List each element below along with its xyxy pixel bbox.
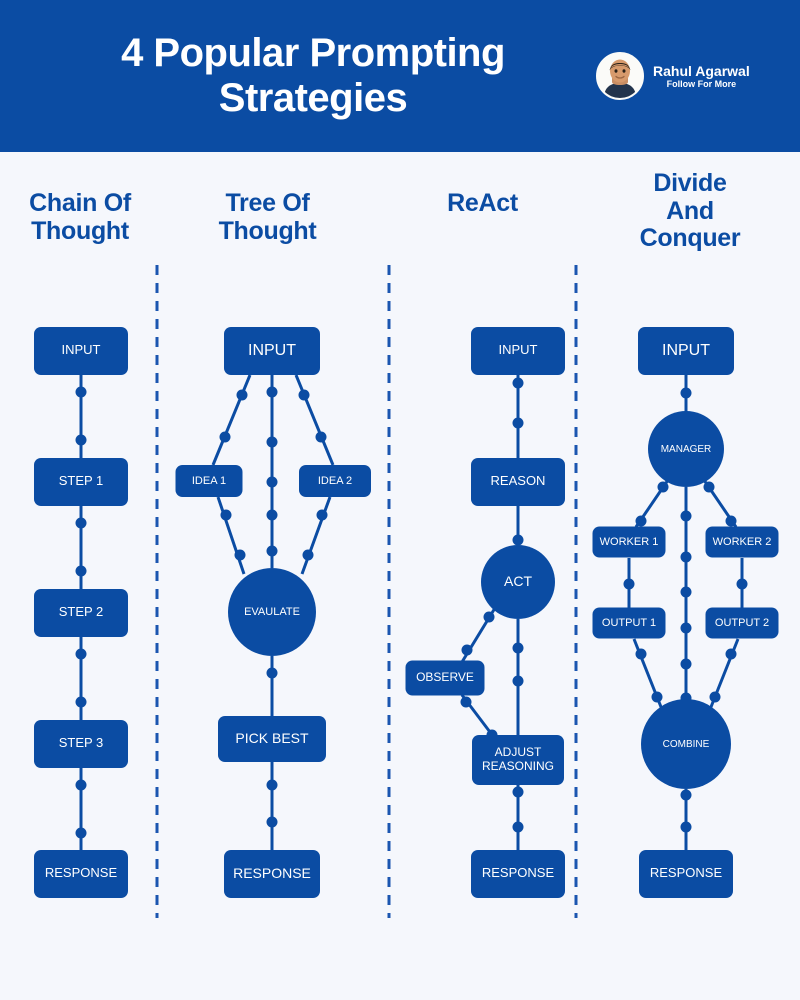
edge-dot-chain-of-thought-2-0 [76, 649, 87, 660]
node-react-response[interactable]: RESPONSE [471, 850, 565, 898]
edge-dot-divide-and-conquer-5-0 [737, 579, 748, 590]
node-label: INPUT [499, 342, 538, 357]
edge-dot-divide-and-conquer-6-1 [652, 692, 663, 703]
edge-dot-divide-and-conquer-1-1 [636, 516, 647, 527]
edge-dot-react-1-0 [513, 535, 524, 546]
edge-dot-tree-of-thought-4-1 [303, 550, 314, 561]
edge-dot-divide-and-conquer-8-1 [681, 822, 692, 833]
node-divide-and-conquer-output-2[interactable]: OUTPUT 2 [706, 608, 779, 639]
edge-dot-chain-of-thought-2-1 [76, 697, 87, 708]
node-label: STEP 2 [59, 604, 104, 619]
node-react-observe[interactable]: OBSERVE [406, 661, 485, 696]
edge-dot-divide-and-conquer-6-0 [636, 649, 647, 660]
edge-tree-of-thought-3 [218, 497, 244, 574]
flow-diagram: INPUTSTEP 1STEP 2STEP 3RESPONSEINPUTIDEA… [0, 0, 800, 1000]
edge-dot-tree-of-thought-3-0 [221, 510, 232, 521]
node-chain-of-thought-input[interactable]: INPUT [34, 327, 128, 375]
edge-dot-tree-of-thought-2-0 [299, 390, 310, 401]
edge-dot-divide-and-conquer-7-1 [710, 692, 721, 703]
node-label: INPUT [62, 342, 101, 357]
node-tree-of-thought-pick-best[interactable]: PICK BEST [218, 716, 326, 762]
node-tree-of-thought-response[interactable]: RESPONSE [224, 850, 320, 898]
edge-dot-react-4-0 [461, 697, 472, 708]
node-label: INPUT [662, 342, 710, 359]
node-label: EVAULATE [244, 606, 300, 618]
node-divide-and-conquer-manager[interactable]: MANAGER [648, 411, 724, 487]
edge-dot-divide-and-conquer-7-0 [726, 649, 737, 660]
node-label: MANAGER [661, 444, 712, 455]
edge-dot-chain-of-thought-3-0 [76, 780, 87, 791]
node-divide-and-conquer-response[interactable]: RESPONSE [639, 850, 733, 898]
edge-dot-chain-of-thought-0-0 [76, 387, 87, 398]
node-label: ACT [504, 573, 532, 589]
edge-dot-tree-of-thought-1-1 [267, 437, 278, 448]
node-label: IDEA 2 [318, 475, 352, 487]
node-label: IDEA 1 [192, 475, 226, 487]
edge-dot-react-2-1 [462, 645, 473, 656]
edge-dot-react-5-0 [513, 787, 524, 798]
edge-dot-divide-and-conquer-2-4 [681, 659, 692, 670]
edge-dot-react-0-1 [513, 418, 524, 429]
edge-dot-chain-of-thought-3-1 [76, 828, 87, 839]
edge-dot-divide-and-conquer-4-0 [624, 579, 635, 590]
edge-dot-tree-of-thought-2-1 [316, 432, 327, 443]
node-label: STEP 3 [59, 735, 104, 750]
edge-dot-divide-and-conquer-3-0 [704, 482, 715, 493]
edge-dot-divide-and-conquer-2-2 [681, 587, 692, 598]
node-chain-of-thought-response[interactable]: RESPONSE [34, 850, 128, 898]
node-label: REASON [491, 473, 546, 488]
edge-dot-react-5-1 [513, 822, 524, 833]
edge-dot-chain-of-thought-1-0 [76, 518, 87, 529]
edge-dot-chain-of-thought-0-1 [76, 435, 87, 446]
edge-dot-tree-of-thought-0-0 [237, 390, 248, 401]
node-tree-of-thought-idea-2[interactable]: IDEA 2 [299, 465, 371, 497]
edge-dot-tree-of-thought-1-2 [267, 477, 278, 488]
flow-nodes: INPUTSTEP 1STEP 2STEP 3RESPONSEINPUTIDEA… [34, 327, 779, 898]
node-label: STEP 1 [59, 473, 104, 488]
node-label: PICK BEST [235, 730, 309, 746]
edge-dot-divide-and-conquer-2-3 [681, 623, 692, 634]
edge-dot-divide-and-conquer-0-0 [681, 388, 692, 399]
edge-dot-react-3-0 [513, 643, 524, 654]
node-divide-and-conquer-worker-1[interactable]: WORKER 1 [593, 527, 666, 558]
node-tree-of-thought-evaulate[interactable]: EVAULATE [228, 568, 316, 656]
edge-dot-tree-of-thought-6-1 [267, 817, 278, 828]
node-divide-and-conquer-combine[interactable]: COMBINE [641, 699, 731, 789]
edge-dot-react-2-0 [484, 612, 495, 623]
edge-dot-divide-and-conquer-1-0 [658, 482, 669, 493]
edge-dot-tree-of-thought-1-3 [267, 510, 278, 521]
node-label: WORKER 2 [713, 536, 772, 548]
edge-tree-of-thought-0 [213, 375, 250, 465]
edge-dot-tree-of-thought-3-1 [235, 550, 246, 561]
node-react-reason[interactable]: REASON [471, 458, 565, 506]
edge-tree-of-thought-4 [302, 497, 330, 574]
node-chain-of-thought-step-2[interactable]: STEP 2 [34, 589, 128, 637]
edge-dot-tree-of-thought-6-0 [267, 780, 278, 791]
node-label: RESPONSE [45, 865, 118, 880]
edge-dot-divide-and-conquer-2-1 [681, 552, 692, 563]
node-tree-of-thought-input[interactable]: INPUT [224, 327, 320, 375]
node-divide-and-conquer-input[interactable]: INPUT [638, 327, 734, 375]
node-divide-and-conquer-worker-2[interactable]: WORKER 2 [706, 527, 779, 558]
edge-dot-react-3-1 [513, 676, 524, 687]
edge-dot-tree-of-thought-1-4 [267, 546, 278, 557]
node-tree-of-thought-idea-1[interactable]: IDEA 1 [176, 465, 243, 497]
node-label: RESPONSE [233, 865, 311, 881]
edge-dot-tree-of-thought-0-1 [220, 432, 231, 443]
edge-dot-tree-of-thought-1-0 [267, 387, 278, 398]
node-label: INPUT [248, 342, 296, 359]
edge-dot-divide-and-conquer-2-0 [681, 511, 692, 522]
edge-dot-tree-of-thought-5-0 [267, 668, 278, 679]
edge-dot-divide-and-conquer-3-1 [726, 516, 737, 527]
node-label: COMBINE [663, 739, 710, 750]
node-label: RESPONSE [482, 865, 555, 880]
node-react-input[interactable]: INPUT [471, 327, 565, 375]
node-chain-of-thought-step-1[interactable]: STEP 1 [34, 458, 128, 506]
node-label: RESPONSE [650, 865, 723, 880]
node-label: OUTPUT 2 [715, 617, 769, 629]
node-label: WORKER 1 [600, 536, 659, 548]
node-divide-and-conquer-output-1[interactable]: OUTPUT 1 [593, 608, 666, 639]
edge-tree-of-thought-2 [296, 375, 333, 465]
node-react-adjust-reasoning[interactable]: ADJUSTREASONING [472, 735, 564, 785]
edge-dot-tree-of-thought-4-0 [317, 510, 328, 521]
node-react-act[interactable]: ACT [481, 545, 555, 619]
infographic-canvas: 4 Popular Prompting Strategies [0, 0, 800, 1000]
edge-dot-react-0-0 [513, 378, 524, 389]
node-label: OBSERVE [416, 670, 474, 684]
node-chain-of-thought-step-3[interactable]: STEP 3 [34, 720, 128, 768]
node-label: OUTPUT 1 [602, 617, 656, 629]
edge-dot-chain-of-thought-1-1 [76, 566, 87, 577]
edge-dot-divide-and-conquer-8-0 [681, 790, 692, 801]
